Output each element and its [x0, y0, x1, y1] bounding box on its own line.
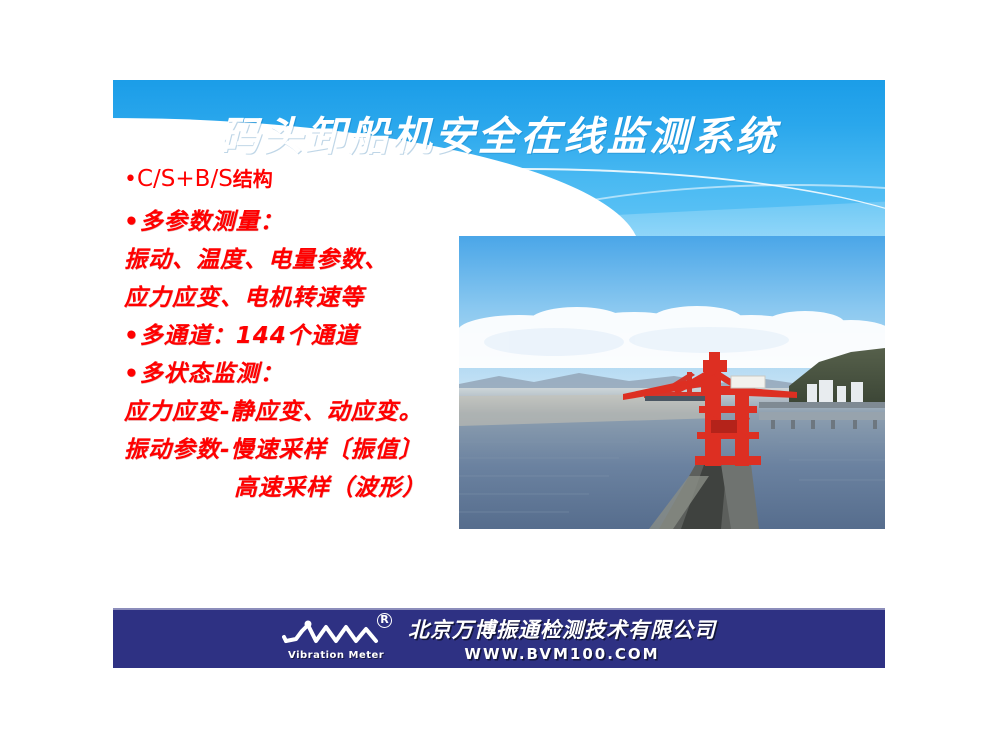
- footer-company-name: 北京万博振通检测技术有限公司: [408, 614, 716, 644]
- vibration-meter-logo: R Vibration Meter: [282, 615, 394, 661]
- registered-trademark-icon: R: [377, 613, 392, 628]
- presentation-slide: 码头卸船机安全在线监测系统 •C/S+B/S结构 •多参数测量： 振动、温度、电…: [0, 0, 1000, 750]
- list-item: •C/S+B/S结构: [124, 168, 469, 191]
- footer-bar: R Vibration Meter 北京万博振通检测技术有限公司 WWW.BVM…: [113, 608, 885, 668]
- list-item: 振动、温度、电量参数、: [124, 249, 469, 272]
- list-item: 高速采样（波形）: [124, 477, 469, 500]
- bullet-list: •C/S+B/S结构 •多参数测量： 振动、温度、电量参数、 应力应变、电机转速…: [124, 168, 469, 515]
- page-title: 码头卸船机安全在线监测系统: [113, 104, 885, 162]
- list-item: 振动参数-慢速采样〔振值〕: [124, 439, 469, 462]
- ship-unloader-photo: [459, 236, 885, 529]
- list-item: 应力应变-静应变、动应变。: [124, 401, 469, 424]
- list-item: 应力应变、电机转速等: [124, 287, 469, 310]
- bullet-dot-icon: •: [124, 167, 137, 192]
- photo-illustration: [459, 236, 885, 529]
- list-item: •多通道：144个通道: [124, 325, 469, 348]
- list-item-label: 结构: [233, 167, 273, 191]
- list-item: •多参数测量：: [124, 211, 469, 234]
- footer-website-url[interactable]: WWW.BVM100.COM: [464, 645, 659, 663]
- list-item-latin: C/S+B/S: [137, 166, 233, 192]
- list-item: •多状态监测：: [124, 363, 469, 386]
- logo-label: Vibration Meter: [288, 650, 384, 661]
